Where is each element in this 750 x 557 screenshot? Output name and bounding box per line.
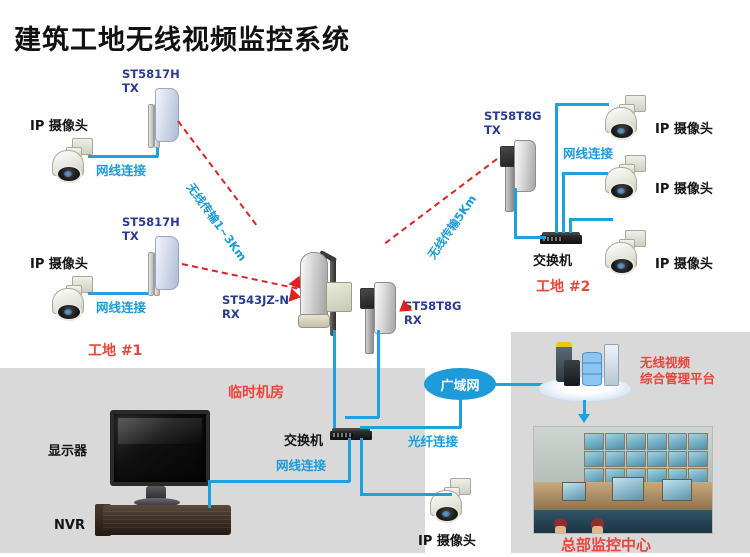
wan-cloud-node[interactable]: 广域网 (424, 368, 496, 400)
wan-label: 广域网 (440, 375, 479, 394)
video-wall-icon (584, 433, 709, 484)
site2-link-label: 网线连接 (563, 143, 613, 162)
wire-site2-cam3-drop (569, 218, 572, 233)
wire-site2-cam2 (562, 172, 608, 175)
wire-rx-sector-drop (333, 330, 336, 428)
wire-wan-to-platform (494, 383, 544, 386)
diagram-canvas: 建筑工地无线视频监控系统 IP 摄像头 网线连接 ST5817H TX IP 摄… (0, 0, 750, 557)
site2-switch-label: 交换机 (533, 250, 572, 269)
fiber-link-label: 光纤连接 (408, 431, 458, 450)
site1-wireless-link-label: 无线传输1~3Km (183, 180, 250, 264)
machine-room-switch-label: 交换机 (284, 430, 323, 449)
wire-switch-to-nvr-drop (348, 438, 351, 482)
machine-room-lan-label: 网线连接 (276, 455, 326, 474)
wire-site2-cam1 (555, 103, 609, 106)
wire-site2-ant-drop (514, 188, 517, 238)
site1-camera-top-label: IP 摄像头 (30, 115, 88, 134)
wire-switch-to-nvr (208, 480, 350, 483)
site2-camera-1-label: IP 摄像头 (655, 118, 713, 137)
site2-antenna-label: ST58T8G TX (484, 110, 541, 137)
site1-zone-label: 工地 #1 (88, 340, 142, 360)
site1-link-bottom-label: 网线连接 (96, 297, 146, 316)
wire-site2-cam1-drop (555, 103, 558, 233)
site2-wireless-link-label: 无线传输5Km (424, 192, 480, 263)
wire-site2-cam2-drop (562, 172, 565, 233)
wireless-beam-site1-bottom (182, 263, 298, 289)
wire-wan-to-switch (360, 426, 461, 429)
site2-camera-3-label: IP 摄像头 (655, 253, 713, 272)
machine-room-rx-box-label: ST58T8G RX (404, 300, 461, 327)
site1-camera-bottom-label: IP 摄像头 (30, 253, 88, 272)
wire-wan-drop (459, 398, 462, 428)
control-room-photo (533, 426, 713, 534)
wire-room-camera-riser (360, 438, 363, 495)
page-title: 建筑工地无线视频监控系统 (14, 18, 350, 57)
site1-link-top-label: 网线连接 (96, 160, 146, 179)
down-arrow-icon (578, 414, 590, 423)
nvr-label: NVR (54, 518, 85, 533)
wire-rx-box-to-switch (345, 416, 379, 419)
wire-rx-box-drop (377, 330, 380, 418)
wire-nvr-riser (208, 480, 211, 508)
machine-room-rx-sector-label: ST543JZ-N RX (222, 294, 289, 321)
site2-zone-label: 工地 #2 (536, 276, 590, 296)
headquarters-center-label: 总部监控中心 (561, 534, 651, 555)
wire-site2-cam3 (569, 218, 613, 221)
monitor-label: 显示器 (48, 440, 87, 459)
platform-label: 无线视频 综合管理平台 (640, 355, 715, 388)
machine-room-zone-label: 临时机房 (228, 382, 284, 402)
site2-camera-2-label: IP 摄像头 (655, 178, 713, 197)
wire-switch-to-room-camera (360, 493, 452, 496)
machine-room-camera-label: IP 摄像头 (418, 530, 476, 549)
wire-site1-cam-top (88, 155, 158, 158)
wire-site2-ant-to-switch (514, 236, 546, 239)
